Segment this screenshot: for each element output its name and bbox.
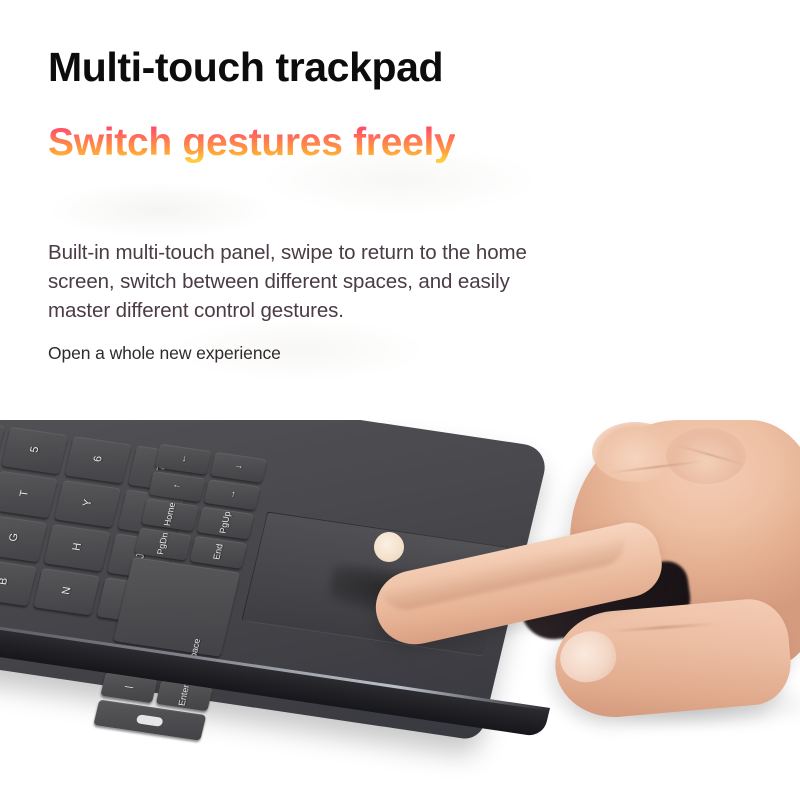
key-legend: N — [58, 578, 75, 603]
key-legend: H — [69, 534, 86, 559]
key-legend: G — [5, 525, 22, 550]
key-legend: PgUp — [218, 508, 233, 537]
key-legend: → — [225, 480, 240, 509]
key-legend: Home — [162, 500, 177, 529]
keyboard-key[interactable]: 6 — [65, 436, 132, 484]
knuckle-highlight-1 — [592, 422, 678, 482]
key-legend: 6 — [90, 446, 107, 471]
key-legend: Enter — [177, 681, 192, 710]
keyboard-key[interactable]: End — [190, 536, 247, 569]
key-legend: 5 — [26, 437, 43, 462]
promo-page: Multi-touch trackpad Switch gestures fre… — [0, 0, 800, 800]
key-legend: End — [211, 537, 226, 566]
keyboard-key[interactable]: B — [0, 559, 37, 607]
keyboard-key[interactable]: Y — [54, 480, 121, 528]
key-legend: B — [0, 569, 12, 594]
keyboard-key[interactable]: 5 — [1, 427, 68, 475]
keyboard-key[interactable]: H — [44, 524, 111, 572]
spacebar[interactable] — [113, 557, 240, 657]
key-legend: T — [16, 481, 33, 506]
keyboard-key[interactable]: T — [0, 471, 58, 519]
keyboard-key[interactable]: G — [0, 515, 47, 563]
bottom-fade — [0, 772, 800, 800]
key-legend: ↓ — [231, 453, 246, 482]
key-legend: | — [121, 673, 136, 702]
keyboard-key[interactable]: ↓ — [210, 452, 267, 483]
key-legend: PgDn — [155, 529, 170, 558]
keyboard-key[interactable]: ↑ — [148, 471, 205, 502]
keyboard-key[interactable]: PgDn — [134, 528, 191, 561]
keyboard-key[interactable]: PgUp — [197, 507, 254, 540]
product-photo: Esc~TabCapsShiftCtrl1QAZFn2WSXWin3EDCAlt… — [0, 420, 800, 800]
keyboard-key[interactable]: Home — [141, 498, 198, 531]
hand — [480, 420, 800, 800]
keyboard-key[interactable]: → — [204, 479, 261, 510]
keyboard-key[interactable]: ← — [155, 444, 212, 475]
key-legend: Y — [79, 490, 96, 515]
tagline: Open a whole new experience — [48, 343, 281, 364]
key-legend: ← — [176, 444, 191, 473]
page-title: Multi-touch trackpad — [48, 45, 443, 90]
body-paragraph: Built-in multi-touch panel, swipe to ret… — [48, 238, 548, 325]
home-button-icon[interactable] — [136, 714, 164, 727]
gradient-subheadline: Switch gestures freely — [48, 122, 455, 165]
knuckle-highlight-2 — [666, 428, 746, 484]
key-legend: ↑ — [169, 472, 184, 501]
keyboard-key[interactable]: N — [33, 568, 100, 616]
